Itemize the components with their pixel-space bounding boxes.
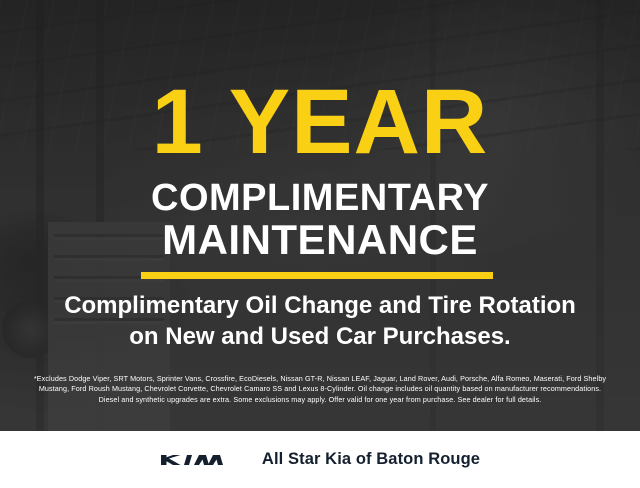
hero-content: 1 YEAR COMPLIMENTARY MAINTENANCE Complim… [0, 0, 640, 431]
disclaimer-line-3: Diesel and synthetic upgrades are extra.… [14, 395, 626, 405]
hero-section: 1 YEAR COMPLIMENTARY MAINTENANCE Complim… [0, 0, 640, 431]
disclaimer-line-2: Mustang, Ford Roush Mustang, Chevrolet C… [14, 384, 626, 394]
subheadline: Complimentary Oil Change and Tire Rotati… [0, 290, 640, 352]
disclaimer-line-1: *Excludes Dodge Viper, SRT Motors, Sprin… [14, 374, 626, 384]
subheadline-line-1: Complimentary Oil Change and Tire Rotati… [0, 290, 640, 321]
disclaimer-text: *Excludes Dodge Viper, SRT Motors, Sprin… [14, 374, 626, 405]
kia-logo-icon [160, 449, 238, 471]
promotional-banner: 1 YEAR COMPLIMENTARY MAINTENANCE Complim… [0, 0, 640, 488]
footer-bar: All Star Kia of Baton Rouge [0, 431, 640, 488]
yellow-divider-bar [141, 272, 493, 279]
headline-complimentary: COMPLIMENTARY [0, 178, 640, 218]
subheadline-line-2: on New and Used Car Purchases. [0, 321, 640, 352]
headline-year: 1 YEAR [0, 76, 640, 168]
headline-maintenance: MAINTENANCE [0, 218, 640, 262]
dealer-name: All Star Kia of Baton Rouge [262, 450, 480, 469]
